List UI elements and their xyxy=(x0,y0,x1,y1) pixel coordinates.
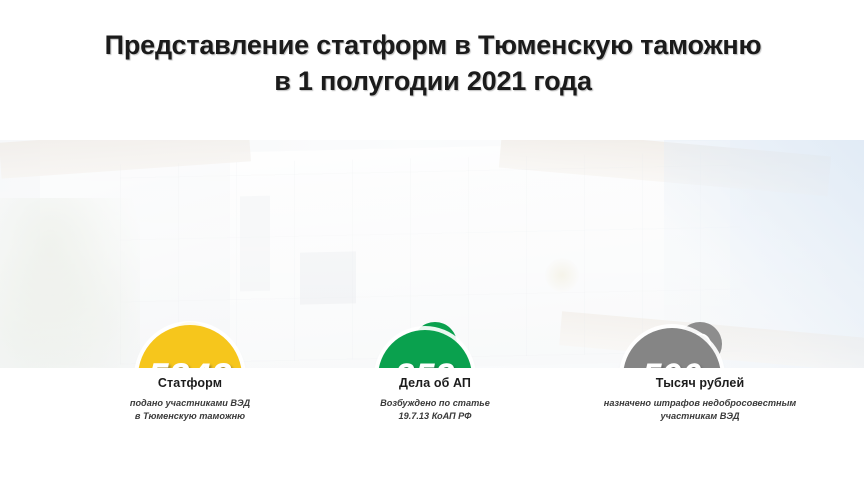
metric-subcaption-statform-line-1: подано участниками ВЭД xyxy=(105,397,275,410)
metric-subcaption-cases-line-1: Возбуждено по статье xyxy=(350,397,520,410)
page-title-line-1: Представление статформ в Тюменскую тамож… xyxy=(0,28,866,64)
metric-caption-fines: Тысяч рублей xyxy=(585,376,815,390)
metric-subcaption-fines-line-1: назначено штрафов недобросовестным xyxy=(585,397,815,410)
metric-value-fines: 590 xyxy=(642,357,702,368)
metric-caption-statform: Статформ xyxy=(105,376,275,390)
metric-value-cases: 253 xyxy=(395,357,455,368)
metric-subcaption-cases-line-2: 19.7.13 КоАП РФ xyxy=(350,410,520,423)
metric-value-statform: 5243 xyxy=(148,356,232,368)
metric-subcaption-fines-line-2: участникам ВЭД xyxy=(585,410,815,423)
metric-caption-cases: Дела об АП xyxy=(350,376,520,390)
metric-subcaption-fines: назначено штрафов недобросовестным участ… xyxy=(585,397,815,423)
page-title: Представление статформ в Тюменскую тамож… xyxy=(0,28,866,100)
metric-subcaption-statform: подано участниками ВЭД в Тюменскую тамож… xyxy=(105,397,275,423)
page-title-line-2: в 1 полугодии 2021 года xyxy=(0,64,866,100)
metric-subcaption-cases: Возбуждено по статье 19.7.13 КоАП РФ xyxy=(350,397,520,423)
metric-subcaption-statform-line-2: в Тюменскую таможню xyxy=(105,410,275,423)
